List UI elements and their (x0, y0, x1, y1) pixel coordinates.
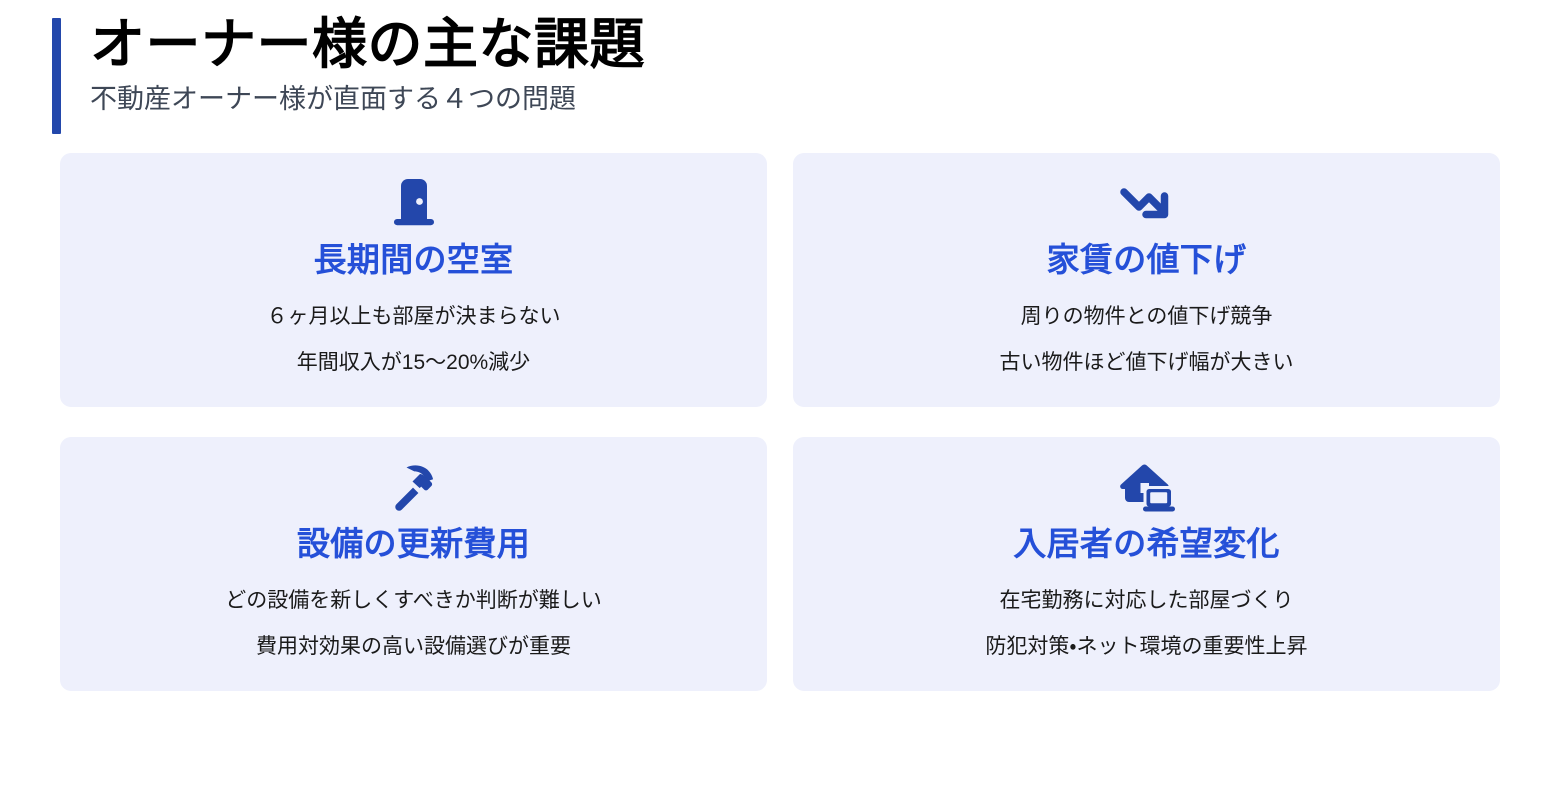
issue-card-title: 家賃の値下げ (1047, 239, 1247, 282)
issue-card-vacancy[interactable]: 長期間の空室 ６ヶ月以上も部屋が決まらない 年間収入が15〜20%減少 (60, 153, 767, 407)
issue-card-line: 周りの物件との値下げ競争 (1021, 304, 1273, 330)
issue-card-grid: 長期間の空室 ６ヶ月以上も部屋が決まらない 年間収入が15〜20%減少 家賃の値… (60, 153, 1500, 691)
issue-card-equipment-cost[interactable]: 設備の更新費用 どの設備を新しくすべきか判断が難しい 費用対効果の高い設備選びが… (60, 437, 767, 691)
issue-card-title: 入居者の希望変化 (1013, 523, 1279, 566)
issue-card-line: 年間収入が15〜20%減少 (297, 350, 530, 376)
trending-down-icon (1116, 175, 1178, 233)
door-icon (383, 175, 445, 233)
header-accent-bar (52, 18, 61, 134)
issue-card-line: どの設備を新しくすべきか判断が難しい (225, 588, 602, 614)
issue-card-line: 在宅勤務に対応した部屋づくり (999, 588, 1293, 614)
slide-root: オーナー様の主な課題 不動産オーナー様が直面する４つの問題 長期間の空室 ６ヶ月… (0, 0, 1568, 788)
issue-card-title: 長期間の空室 (314, 239, 514, 282)
page-title: オーナー様の主な課題 (90, 12, 1500, 77)
house-laptop-icon (1116, 459, 1178, 517)
issue-card-title: 設備の更新費用 (297, 523, 530, 566)
issue-card-line: ６ヶ月以上も部屋が決まらない (267, 304, 561, 330)
issue-card-lines: 在宅勤務に対応した部屋づくり 防犯対策・ネット環境の重要性上昇 (985, 588, 1307, 661)
issue-card-line: 古い物件ほど値下げ幅が大きい (1000, 350, 1294, 376)
page-header: オーナー様の主な課題 不動産オーナー様が直面する４つの問題 (52, 12, 1500, 117)
issue-card-lines: ６ヶ月以上も部屋が決まらない 年間収入が15〜20%減少 (267, 304, 561, 377)
issue-card-rent-reduction[interactable]: 家賃の値下げ 周りの物件との値下げ競争 古い物件ほど値下げ幅が大きい (793, 153, 1500, 407)
issue-card-line: 費用対効果の高い設備選びが重要 (256, 634, 571, 660)
issue-card-lines: どの設備を新しくすべきか判断が難しい 費用対効果の高い設備選びが重要 (225, 588, 602, 661)
hammer-icon (383, 459, 445, 517)
issue-card-line: 防犯対策・ネット環境の重要性上昇 (985, 634, 1307, 660)
issue-card-tenant-needs[interactable]: 入居者の希望変化 在宅勤務に対応した部屋づくり 防犯対策・ネット環境の重要性上昇 (793, 437, 1500, 691)
page-subtitle: 不動産オーナー様が直面する４つの問題 (90, 81, 1500, 117)
issue-card-lines: 周りの物件との値下げ競争 古い物件ほど値下げ幅が大きい (1000, 304, 1294, 377)
